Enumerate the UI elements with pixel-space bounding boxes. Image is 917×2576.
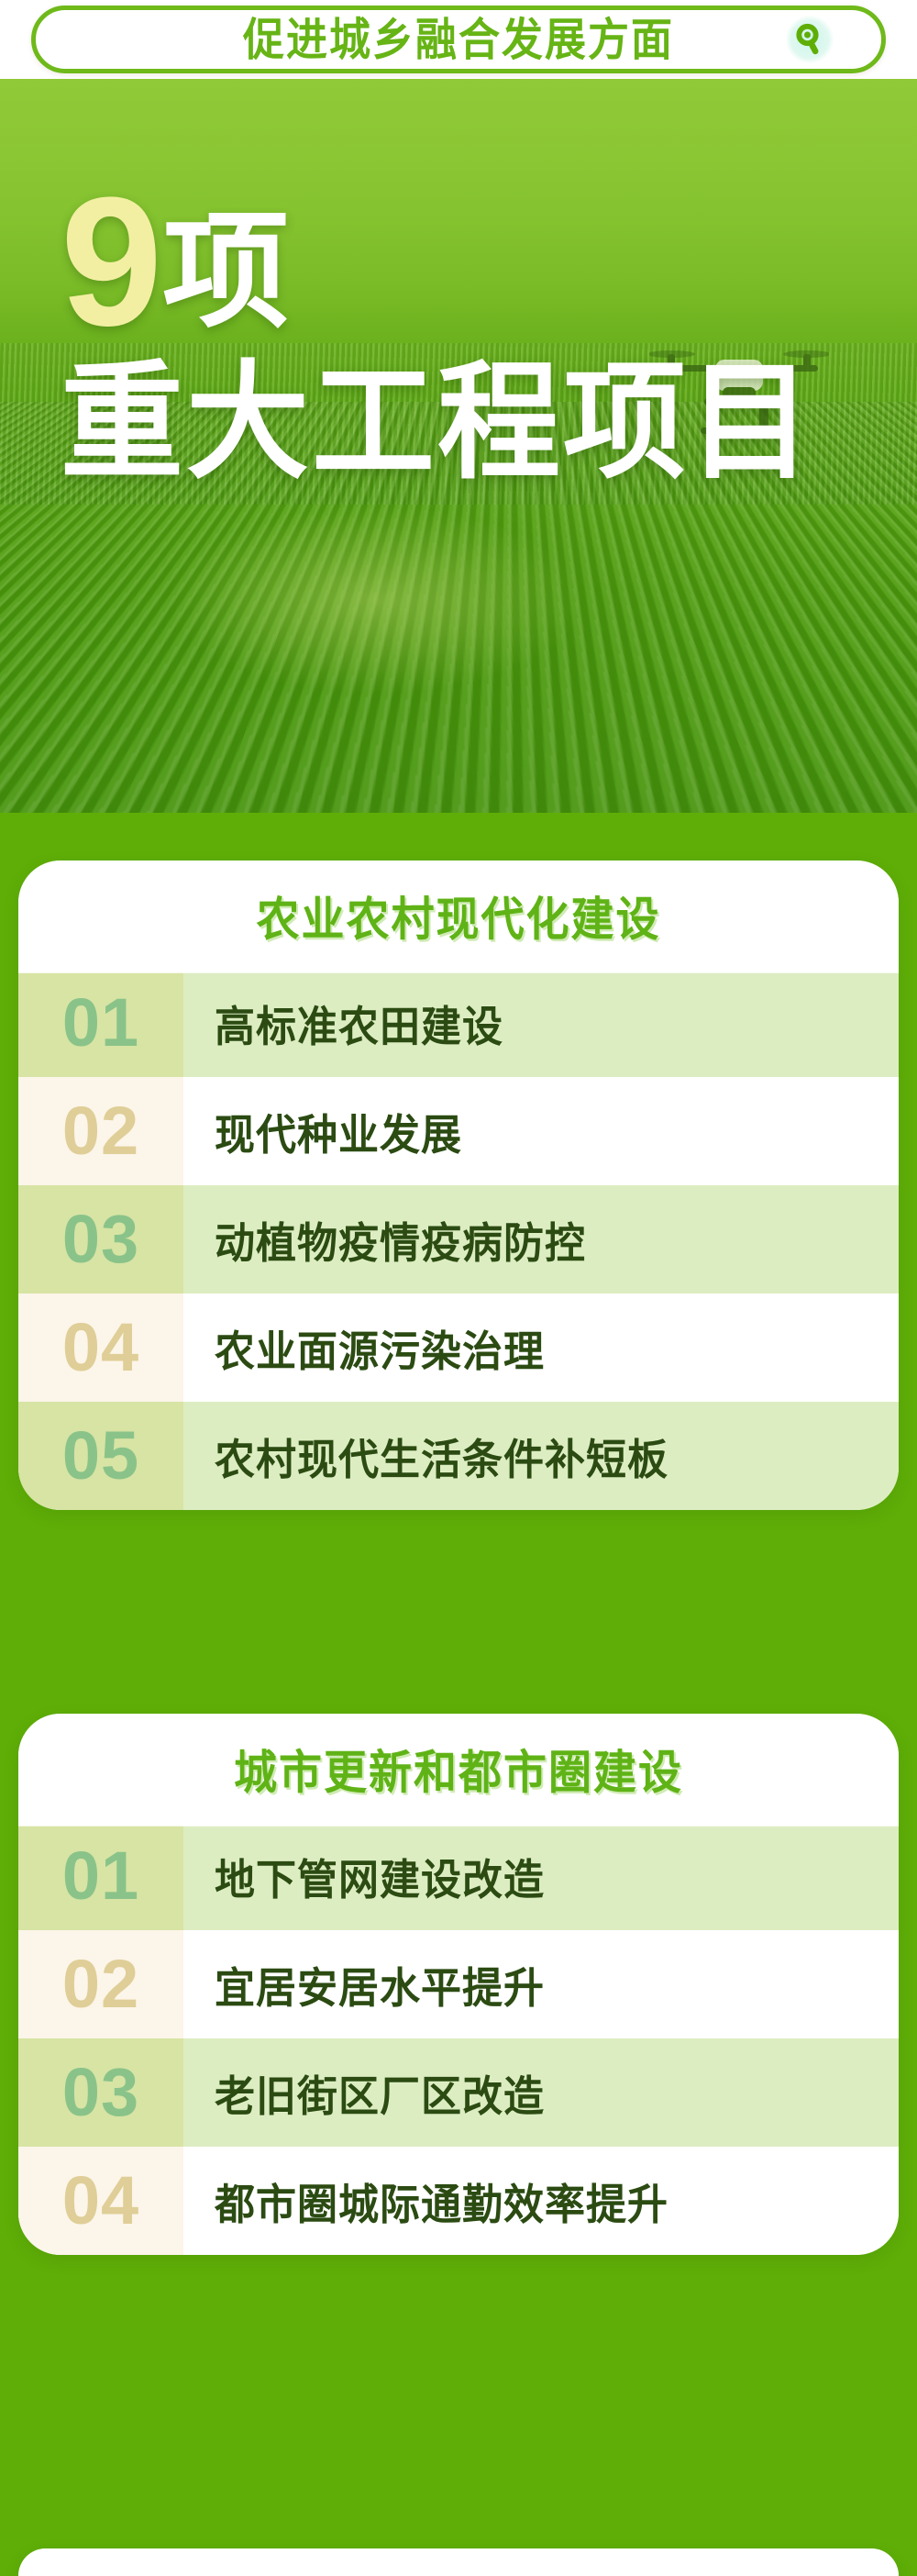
list-item-number: 01: [18, 969, 183, 1077]
list-item-label: 老旧街区厂区改造: [183, 2036, 899, 2149]
card-rows: 01 地下管网建设改造 02 宜居安居水平提升 03 老旧街区厂区改造 04 都…: [18, 1822, 899, 2255]
card-urban: 城市更新和都市圈建设 01 地下管网建设改造 02 宜居安居水平提升 03 老旧…: [18, 1714, 899, 2255]
hero-subtitle: 重大工程项目: [61, 360, 814, 487]
card-title: [18, 2548, 899, 2576]
list-item[interactable]: 05 农村现代生活条件补短板: [18, 1402, 899, 1510]
hero-headline: 9 项 重大工程项目: [61, 182, 814, 483]
list-item-number: 05: [18, 1402, 183, 1510]
list-item-label: 高标准农田建设: [183, 966, 899, 1080]
list-item-number: 02: [18, 1930, 183, 2038]
card-title: 农业农村现代化建设: [18, 861, 899, 973]
list-item-label: 动植物疫情疫病防控: [183, 1183, 899, 1296]
list-item-number: 04: [18, 1294, 183, 1402]
list-item-number: 03: [18, 1185, 183, 1294]
header-band: 促进城乡融合发展方面: [0, 0, 917, 79]
search-icon[interactable]: [786, 16, 834, 63]
list-item-label: 地下管网建设改造: [183, 1819, 899, 1933]
card-agriculture: 农业农村现代化建设 01 高标准农田建设 02 现代种业发展 03 动植物疫情疫…: [18, 861, 899, 1510]
list-item-label: 农村现代生活条件补短板: [183, 1399, 899, 1510]
header-pill: 促进城乡融合发展方面: [31, 6, 886, 73]
infographic-page: 促进城乡融合发展方面: [0, 0, 917, 2576]
card-next-partial: [18, 2548, 899, 2576]
list-item[interactable]: 03 老旧街区厂区改造: [18, 2038, 899, 2147]
list-item[interactable]: 01 高标准农田建设: [18, 969, 899, 1077]
list-item[interactable]: 01 地下管网建设改造: [18, 1822, 899, 1930]
list-item[interactable]: 03 动植物疫情疫病防控: [18, 1185, 899, 1294]
list-item[interactable]: 02 宜居安居水平提升: [18, 1930, 899, 2038]
hero-unit: 项: [162, 209, 291, 336]
list-item-label: 都市圈城际通勤效率提升: [183, 2144, 899, 2255]
hero-field-patch: [165, 505, 587, 695]
list-item-label: 宜居安居水平提升: [183, 1927, 899, 2041]
list-item[interactable]: 02 现代种业发展: [18, 1077, 899, 1185]
card-rows: 01 高标准农田建设 02 现代种业发展 03 动植物疫情疫病防控 04 农业面…: [18, 969, 899, 1510]
list-item-label: 农业面源污染治理: [183, 1291, 899, 1405]
list-item-number: 01: [18, 1822, 183, 1930]
list-item-number: 02: [18, 1077, 183, 1185]
hero-banner: 9 项 重大工程项目: [0, 79, 917, 813]
list-item[interactable]: 04 都市圈城际通勤效率提升: [18, 2147, 899, 2255]
list-item[interactable]: 04 农业面源污染治理: [18, 1294, 899, 1402]
hero-line-one: 9 项: [61, 182, 814, 343]
card-title: 城市更新和都市圈建设: [18, 1714, 899, 1827]
hero-count: 9: [61, 182, 157, 343]
list-item-number: 03: [18, 2038, 183, 2147]
page-title: 促进城乡融合发展方面: [243, 17, 674, 62]
list-item-label: 现代种业发展: [183, 1074, 899, 1188]
list-item-number: 04: [18, 2147, 183, 2255]
